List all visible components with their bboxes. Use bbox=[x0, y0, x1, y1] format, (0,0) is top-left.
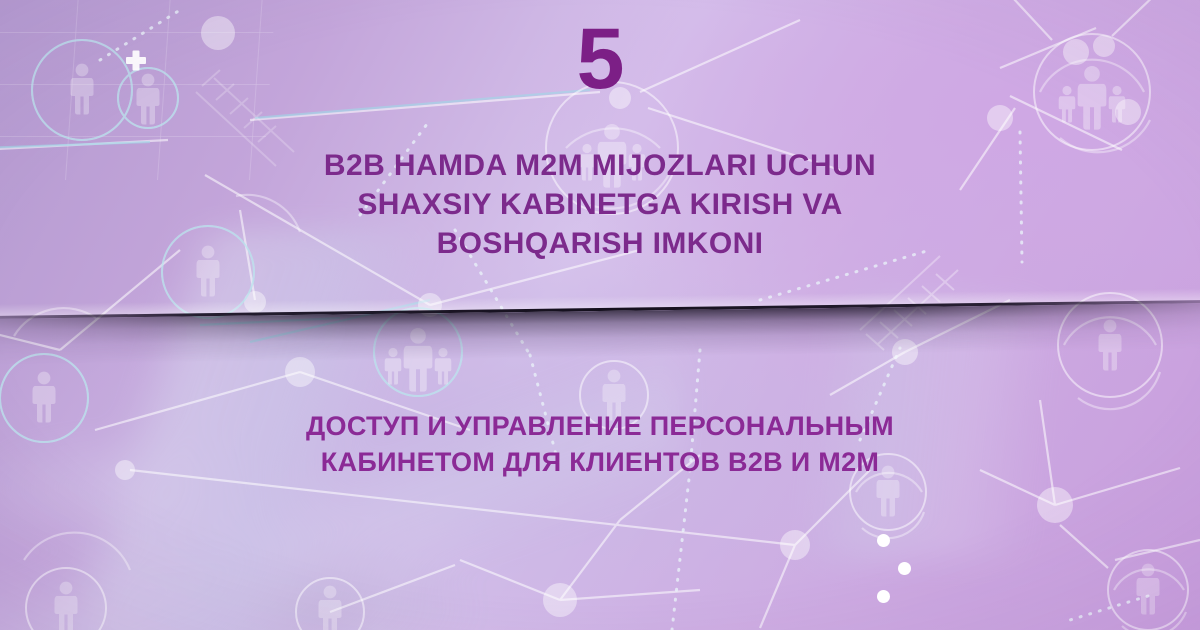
headline-russian: ДОСТУП И УПРАВЛЕНИЕ ПЕРСОНАЛЬНЫМ КАБИНЕТ… bbox=[120, 408, 1080, 480]
slide-number: 5 bbox=[0, 16, 1200, 102]
headline-uzbek: B2B HAMDA M2M MIJOZLARI UCHUN SHAXSIY KA… bbox=[160, 146, 1040, 263]
accent-dot-1 bbox=[877, 534, 890, 547]
headline-uzbek-line-2: SHAXSIY KABINETGA KIRISH VA bbox=[160, 185, 1040, 224]
headline-russian-line-2: КАБИНЕТОМ ДЛЯ КЛИЕНТОВ B2B И M2M bbox=[120, 444, 1080, 480]
headline-uzbek-line-3: BOSHQARISH IMKONI bbox=[160, 224, 1040, 263]
accent-dot-3 bbox=[877, 590, 890, 603]
headline-russian-line-1: ДОСТУП И УПРАВЛЕНИЕ ПЕРСОНАЛЬНЫМ bbox=[120, 408, 1080, 444]
accent-dot-2 bbox=[898, 562, 911, 575]
presentation-slide: 5 B2B HAMDA M2M MIJOZLARI UCHUN SHAXSIY … bbox=[0, 0, 1200, 630]
slide-content: 5 B2B HAMDA M2M MIJOZLARI UCHUN SHAXSIY … bbox=[0, 0, 1200, 630]
headline-uzbek-line-1: B2B HAMDA M2M MIJOZLARI UCHUN bbox=[160, 146, 1040, 185]
